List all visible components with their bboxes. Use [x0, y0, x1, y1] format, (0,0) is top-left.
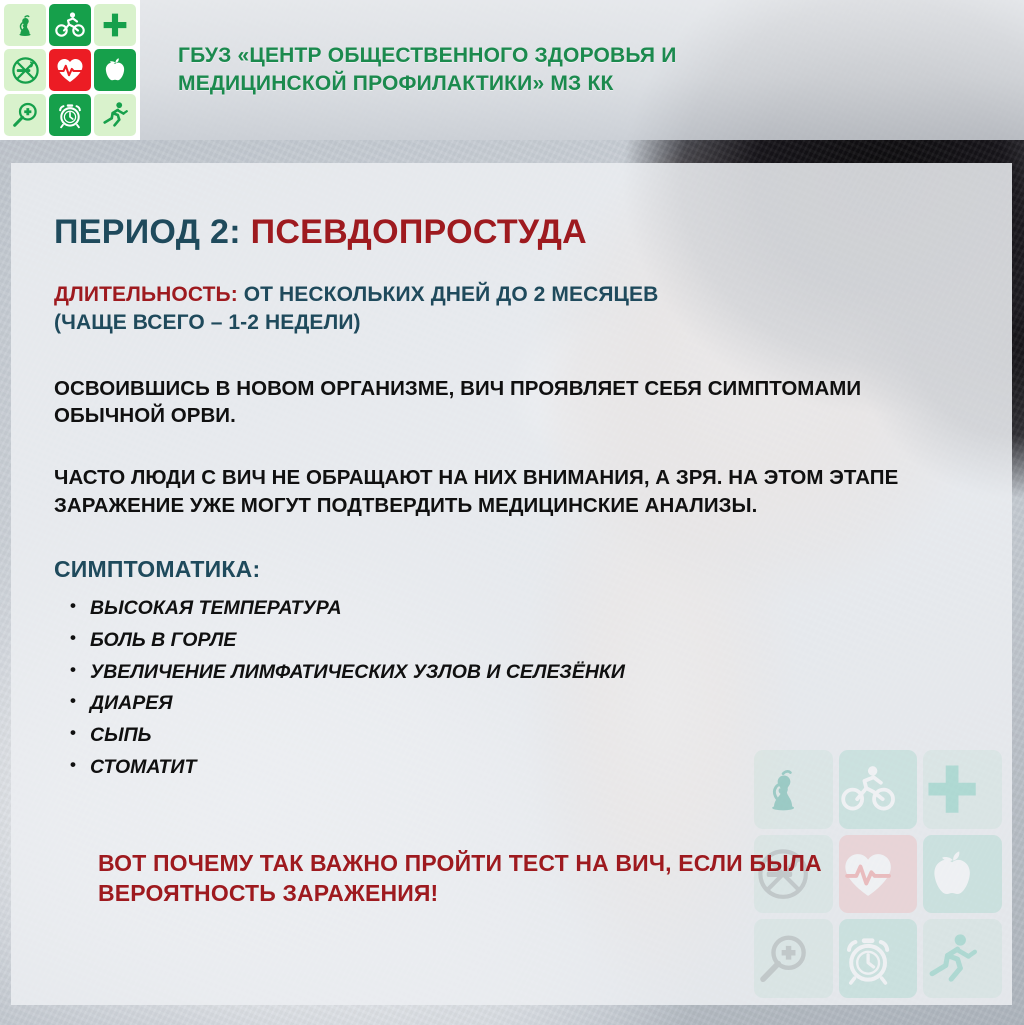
alarm-clock-icon	[55, 100, 85, 130]
watermark-cell-runner	[923, 919, 1002, 998]
duration-line: ДЛИТЕЛЬНОСТЬ: ОТ НЕСКОЛЬКИХ ДНЕЙ ДО 2 МЕ…	[54, 281, 960, 337]
page-title: ПЕРИОД 2: ПСЕВДОПРОСТУДА	[54, 215, 960, 251]
list-item: ДИАРЕЯ	[68, 688, 960, 720]
content-panel: ПЕРИОД 2: ПСЕВДОПРОСТУДА ДЛИТЕЛЬНОСТЬ: О…	[11, 163, 1012, 1005]
organization-logo	[0, 0, 140, 140]
bowl-of-hygieia-icon	[10, 10, 40, 40]
logo-cell-heart-ecg	[49, 49, 91, 91]
logo-cell-medical-cross	[94, 4, 136, 46]
magnifier-plus-icon	[10, 100, 40, 130]
duration-value-line1: ОТ НЕСКОЛЬКИХ ДНЕЙ ДО 2 МЕСЯЦЕВ	[244, 283, 659, 306]
logo-cell-magnifier-plus	[4, 94, 46, 136]
cyclist-icon	[54, 9, 86, 41]
organization-title-line2: МЕДИЦИНСКОЙ ПРОФИЛАКТИКИ» МЗ КК	[178, 70, 677, 98]
runner-icon	[100, 100, 130, 130]
paragraph-awareness: ЧАСТО ЛЮДИ С ВИЧ НЕ ОБРАЩАЮТ НА НИХ ВНИМ…	[54, 464, 960, 520]
call-to-action: ВОТ ПОЧЕМУ ТАК ВАЖНО ПРОЙТИ ТЕСТ НА ВИЧ,…	[98, 848, 960, 909]
organization-title: ГБУЗ «ЦЕНТР ОБЩЕСТВЕННОГО ЗДОРОВЬЯ И МЕД…	[178, 42, 677, 97]
runner-icon	[923, 930, 1002, 988]
page-title-period: ПЕРИОД 2:	[54, 213, 241, 251]
heart-ecg-icon	[54, 54, 86, 86]
medical-cross-icon	[101, 11, 129, 39]
content-body: ПЕРИОД 2: ПСЕВДОПРОСТУДА ДЛИТЕЛЬНОСТЬ: О…	[11, 163, 1012, 909]
watermark-cell-alarm-clock	[839, 919, 918, 998]
organization-title-line1: ГБУЗ «ЦЕНТР ОБЩЕСТВЕННОГО ЗДОРОВЬЯ И	[178, 42, 677, 70]
symptoms-heading: СИМПТОМАТИКА:	[54, 556, 960, 583]
apple-icon	[100, 55, 130, 85]
duration-value-line2: (ЧАЩЕ ВСЕГО – 1-2 НЕДЕЛИ)	[54, 311, 361, 334]
logo-cell-bowl-of-hygieia	[4, 4, 46, 46]
list-item: УВЕЛИЧЕНИЕ ЛИМФАТИЧЕСКИХ УЗЛОВ И СЕЛЕЗЁН…	[68, 657, 960, 689]
no-smoking-icon	[10, 55, 41, 86]
logo-cell-no-smoking	[4, 49, 46, 91]
list-item: СТОМАТИТ	[68, 752, 960, 784]
logo-cell-alarm-clock	[49, 94, 91, 136]
header-band: ГБУЗ «ЦЕНТР ОБЩЕСТВЕННОГО ЗДОРОВЬЯ И МЕД…	[0, 0, 1024, 140]
alarm-clock-icon	[839, 930, 918, 988]
infographic-poster: ГБУЗ «ЦЕНТР ОБЩЕСТВЕННОГО ЗДОРОВЬЯ И МЕД…	[0, 0, 1024, 1025]
list-item: СЫПЬ	[68, 720, 960, 752]
logo-cell-cyclist	[49, 4, 91, 46]
magnifier-plus-icon	[754, 930, 833, 988]
logo-cell-runner	[94, 94, 136, 136]
symptoms-list: ВЫСОКАЯ ТЕМПЕРАТУРА БОЛЬ В ГОРЛЕ УВЕЛИЧЕ…	[54, 593, 960, 784]
list-item: ВЫСОКАЯ ТЕМПЕРАТУРА	[68, 593, 960, 625]
duration-label: ДЛИТЕЛЬНОСТЬ:	[54, 283, 238, 306]
logo-cell-apple	[94, 49, 136, 91]
watermark-cell-magnifier-plus	[754, 919, 833, 998]
list-item: БОЛЬ В ГОРЛЕ	[68, 625, 960, 657]
paragraph-onset: ОСВОИВШИСЬ В НОВОМ ОРГАНИЗМЕ, ВИЧ ПРОЯВЛ…	[54, 375, 960, 431]
page-title-name: ПСЕВДОПРОСТУДА	[251, 213, 587, 251]
